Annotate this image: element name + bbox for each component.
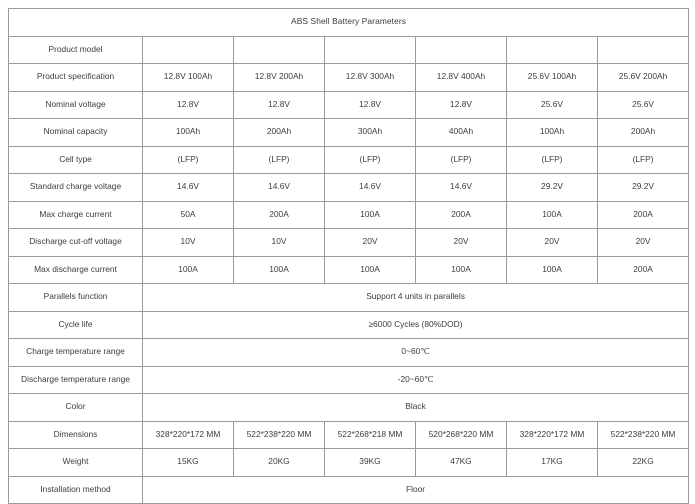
value-cell: 12.8V [325, 91, 416, 119]
value-cell: 100A [507, 201, 598, 229]
value-cell: (LFP) [598, 146, 689, 174]
table-row: Max discharge current100A100A100A100A100… [9, 256, 689, 284]
value-cell: 12.8V [234, 91, 325, 119]
value-cell: 100Ah [143, 119, 234, 147]
value-cell: 200A [416, 201, 507, 229]
table-row: Max charge current50A200A100A200A100A200… [9, 201, 689, 229]
value-cell [325, 36, 416, 64]
row-label: Product specification [9, 64, 143, 92]
value-cell: 522*268*218 MM [325, 421, 416, 449]
value-cell: 100Ah [507, 119, 598, 147]
table-row: Parallels functionSupport 4 units in par… [9, 284, 689, 312]
row-label: Nominal capacity [9, 119, 143, 147]
page-title: ABS Shell Battery Parameters [9, 9, 689, 37]
value-cell: 14.6V [143, 174, 234, 202]
row-label: Product model [9, 36, 143, 64]
value-cell: 20V [416, 229, 507, 257]
value-cell: (LFP) [234, 146, 325, 174]
value-cell: 29.2V [598, 174, 689, 202]
row-label: Dimensions [9, 421, 143, 449]
row-label: Nominal voltage [9, 91, 143, 119]
row-label: Charge temperature range [9, 339, 143, 367]
value-cell: 20V [325, 229, 416, 257]
value-cell: 17KG [507, 449, 598, 477]
row-label: Cycle life [9, 311, 143, 339]
table-row: Nominal capacity100Ah200Ah300Ah400Ah100A… [9, 119, 689, 147]
row-label: Max charge current [9, 201, 143, 229]
row-label: Weight [9, 449, 143, 477]
value-cell: (LFP) [325, 146, 416, 174]
value-cell: 100A [325, 256, 416, 284]
table-row: Nominal voltage12.8V12.8V12.8V12.8V25.6V… [9, 91, 689, 119]
value-cell: 12.8V 300Ah [325, 64, 416, 92]
table-row: Product specification12.8V 100Ah12.8V 20… [9, 64, 689, 92]
value-cell: 47KG [416, 449, 507, 477]
value-cell: 100A [325, 201, 416, 229]
value-cell: 12.8V 100Ah [143, 64, 234, 92]
merged-value-cell: -20~60℃ [143, 366, 689, 394]
value-cell [143, 36, 234, 64]
row-label: Color [9, 394, 143, 422]
value-cell: 25.6V [507, 91, 598, 119]
value-cell: 25.6V 100Ah [507, 64, 598, 92]
value-cell: 100A [234, 256, 325, 284]
table-title-row: ABS Shell Battery Parameters [9, 9, 689, 37]
value-cell: 328*220*172 MM [507, 421, 598, 449]
table-body: ABS Shell Battery Parameters Product mod… [9, 9, 689, 504]
row-label: Discharge temperature range [9, 366, 143, 394]
value-cell: 14.6V [325, 174, 416, 202]
value-cell: 12.8V 400Ah [416, 64, 507, 92]
value-cell: 200A [598, 201, 689, 229]
value-cell: 29.2V [507, 174, 598, 202]
value-cell: (LFP) [416, 146, 507, 174]
value-cell: 20KG [234, 449, 325, 477]
merged-value-cell: Black [143, 394, 689, 422]
value-cell: 328*220*172 MM [143, 421, 234, 449]
row-label: Standard charge voltage [9, 174, 143, 202]
table-row: ColorBlack [9, 394, 689, 422]
value-cell: 300Ah [325, 119, 416, 147]
row-label: Cell type [9, 146, 143, 174]
value-cell: 200A [234, 201, 325, 229]
table-row: Installation methodFloor [9, 476, 689, 504]
value-cell: 39KG [325, 449, 416, 477]
merged-value-cell: ≥6000 Cycles (80%DOD) [143, 311, 689, 339]
merged-value-cell: Support 4 units in parallels [143, 284, 689, 312]
battery-parameters-table: ABS Shell Battery Parameters Product mod… [8, 8, 689, 504]
table-row: Weight15KG20KG39KG47KG17KG22KG [9, 449, 689, 477]
spec-sheet-page: ABS Shell Battery Parameters Product mod… [0, 0, 695, 500]
table-row: Charge temperature range0~60℃ [9, 339, 689, 367]
row-label: Parallels function [9, 284, 143, 312]
value-cell: 25.6V [598, 91, 689, 119]
value-cell [416, 36, 507, 64]
table-row: Cell type(LFP)(LFP)(LFP)(LFP)(LFP)(LFP) [9, 146, 689, 174]
value-cell: (LFP) [507, 146, 598, 174]
value-cell: 200A [598, 256, 689, 284]
value-cell: 100A [507, 256, 598, 284]
value-cell: 522*238*220 MM [234, 421, 325, 449]
value-cell: 100A [143, 256, 234, 284]
value-cell: 10V [143, 229, 234, 257]
value-cell: 14.6V [416, 174, 507, 202]
value-cell: 50A [143, 201, 234, 229]
value-cell: 400Ah [416, 119, 507, 147]
value-cell: 200Ah [234, 119, 325, 147]
table-row: Cycle life≥6000 Cycles (80%DOD) [9, 311, 689, 339]
table-row: Discharge cut-off voltage10V10V20V20V20V… [9, 229, 689, 257]
value-cell: 22KG [598, 449, 689, 477]
table-row: Discharge temperature range-20~60℃ [9, 366, 689, 394]
row-label: Installation method [9, 476, 143, 504]
row-label: Discharge cut-off voltage [9, 229, 143, 257]
value-cell: (LFP) [143, 146, 234, 174]
row-label: Max discharge current [9, 256, 143, 284]
value-cell: 15KG [143, 449, 234, 477]
table-row: Product model [9, 36, 689, 64]
merged-value-cell: Floor [143, 476, 689, 504]
value-cell [598, 36, 689, 64]
value-cell [507, 36, 598, 64]
value-cell: 14.6V [234, 174, 325, 202]
table-row: Standard charge voltage14.6V14.6V14.6V14… [9, 174, 689, 202]
value-cell: 10V [234, 229, 325, 257]
value-cell: 520*268*220 MM [416, 421, 507, 449]
value-cell: 20V [507, 229, 598, 257]
value-cell: 12.8V [416, 91, 507, 119]
merged-value-cell: 0~60℃ [143, 339, 689, 367]
value-cell: 100A [416, 256, 507, 284]
value-cell: 20V [598, 229, 689, 257]
value-cell: 522*238*220 MM [598, 421, 689, 449]
value-cell: 12.8V 200Ah [234, 64, 325, 92]
value-cell: 25.6V 200Ah [598, 64, 689, 92]
value-cell [234, 36, 325, 64]
value-cell: 12.8V [143, 91, 234, 119]
value-cell: 200Ah [598, 119, 689, 147]
table-row: Dimensions328*220*172 MM522*238*220 MM52… [9, 421, 689, 449]
